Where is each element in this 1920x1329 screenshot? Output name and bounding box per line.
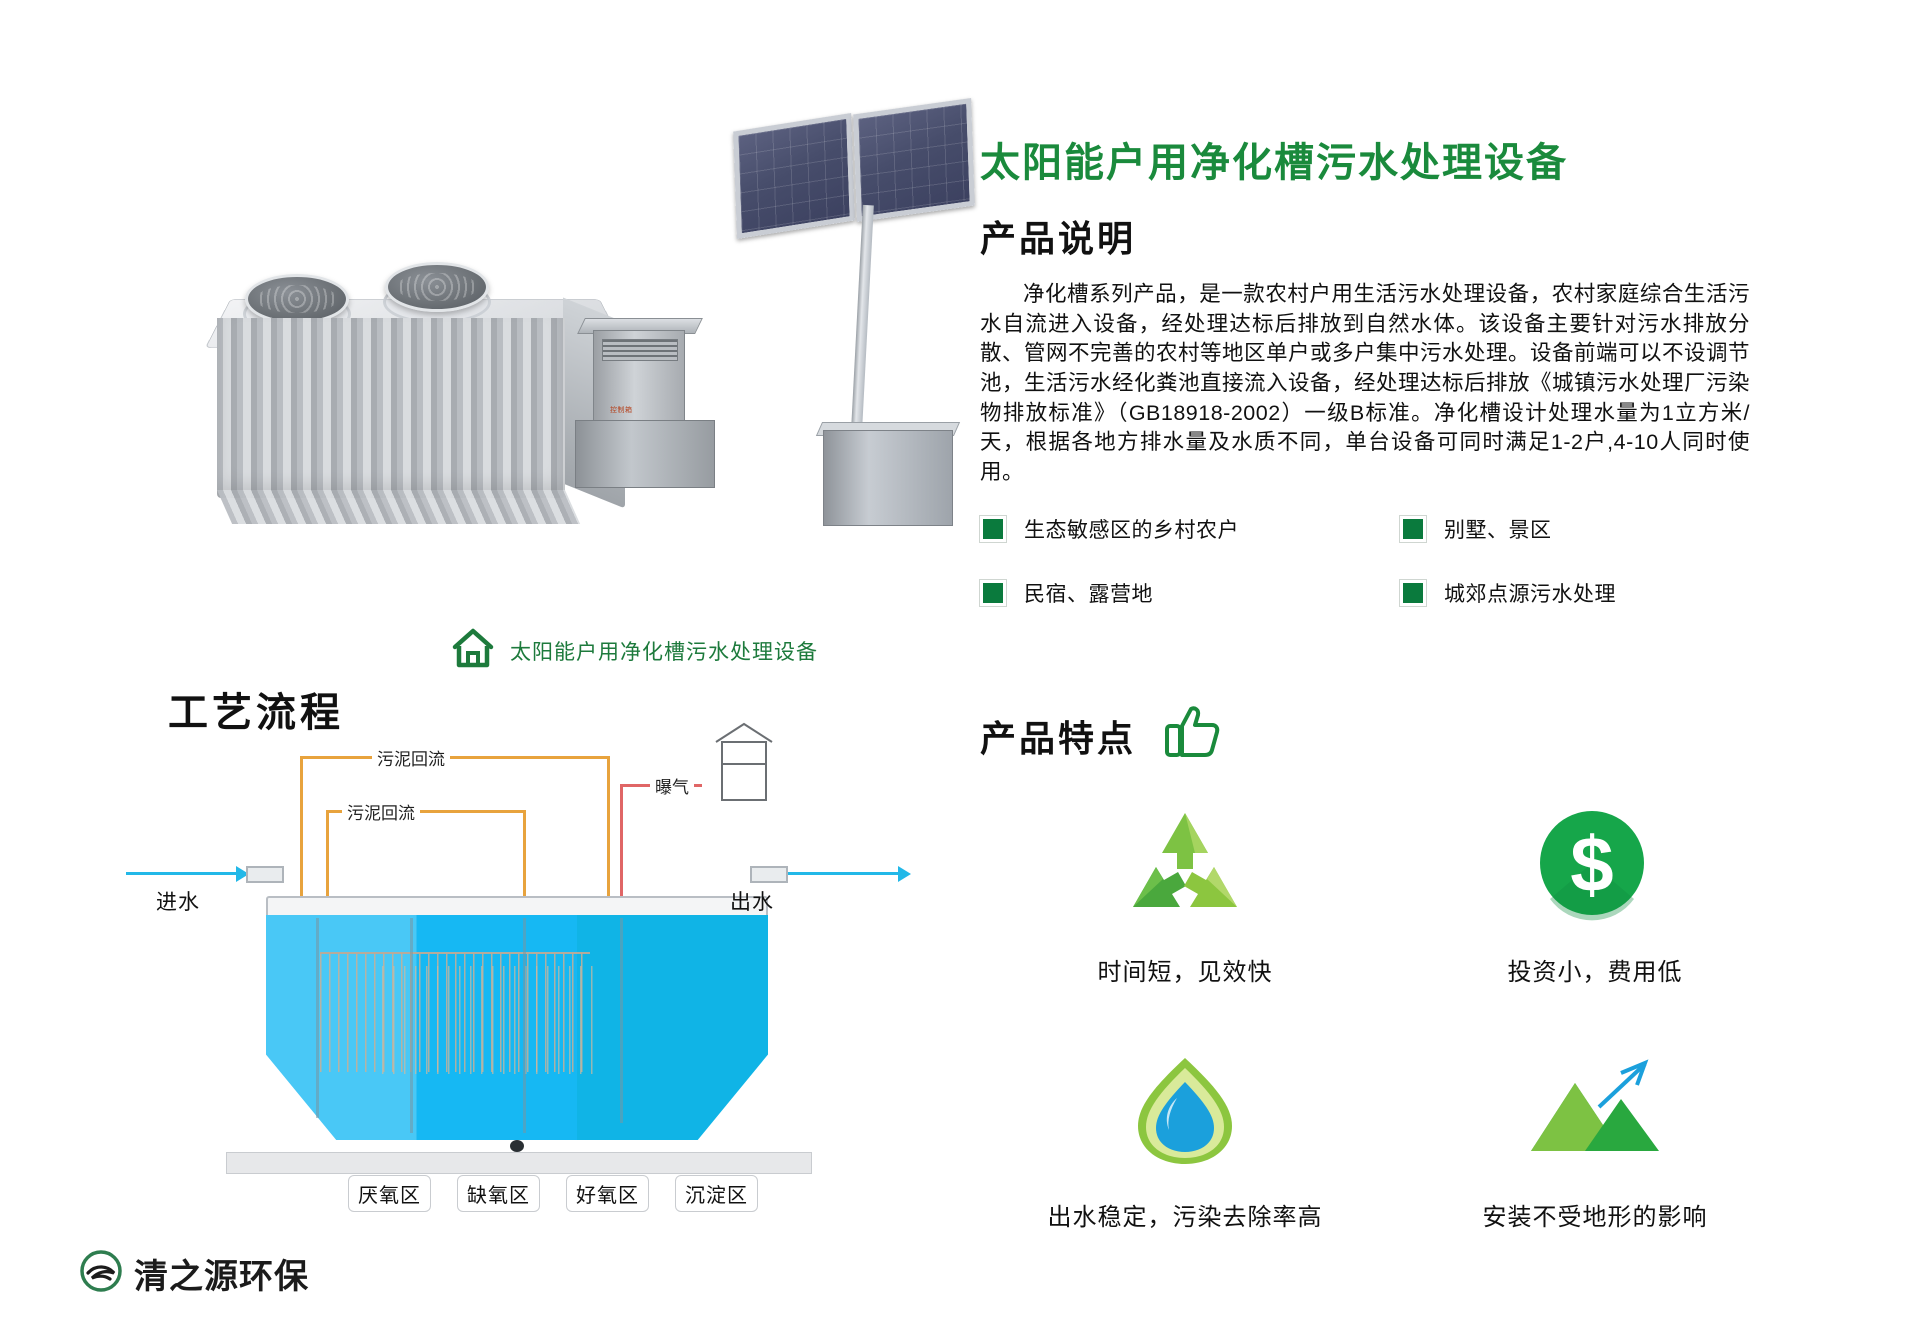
application-label: 别墅、景区 bbox=[1444, 514, 1552, 544]
logo-text: 清之源环保 bbox=[134, 1249, 309, 1298]
dollar-icon: $ bbox=[1520, 800, 1670, 930]
house-outlet-icon bbox=[710, 720, 778, 806]
description-column: 太阳能户用净化槽污水处理设备 产品说明 净化槽系列产品，是一款农村户用生活污水处… bbox=[980, 130, 1860, 608]
biofilm-media-pack-2 bbox=[382, 966, 594, 1074]
solar-panel-left bbox=[733, 113, 855, 239]
mast-base bbox=[823, 430, 953, 526]
tank-hatch-2 bbox=[385, 262, 489, 312]
zone-divider-4 bbox=[620, 918, 623, 1123]
features-grid: 时间短，见效快 $ 投资小，费用低 出水稳定，污染去 bbox=[980, 800, 1800, 1232]
purification-tank bbox=[205, 258, 625, 500]
solar-panel-assembly bbox=[735, 100, 995, 520]
section-title-features: 产品特点 bbox=[980, 710, 1136, 762]
square-bullet-icon bbox=[1400, 516, 1426, 542]
product-description-text: 净化槽系列产品，是一款农村户用生活污水处理设备，农村家庭综合生活污水自流进入设备… bbox=[980, 280, 1750, 488]
thumbs-up-icon bbox=[1162, 702, 1220, 769]
inlet-label: 进水 bbox=[156, 886, 200, 916]
outlet-arrow-head bbox=[898, 866, 911, 882]
zone-chip-sedimentation: 沉淀区 bbox=[675, 1175, 758, 1212]
tank-ribbed-body bbox=[217, 318, 565, 498]
zone-divider-2 bbox=[410, 918, 413, 1133]
feature-label: 投资小，费用低 bbox=[1508, 952, 1683, 987]
feature-label: 时间短，见效快 bbox=[1098, 952, 1273, 987]
feature-item-2: $ 投资小，费用低 bbox=[1390, 800, 1800, 987]
control-box: 控制箱 bbox=[593, 330, 685, 426]
application-label: 城郊点源污水处理 bbox=[1444, 578, 1616, 608]
waterdrop-icon bbox=[1110, 1045, 1260, 1175]
recycle-icon bbox=[1110, 800, 1260, 930]
aeration-label: 曝气 bbox=[650, 773, 694, 798]
brochure-page: 控制箱 太阳能户用净化槽污水处理设备 太阳能户用净化槽污水处理设备 产品说明 净… bbox=[0, 0, 1920, 1329]
company-logo: 清之源环保 bbox=[78, 1248, 309, 1299]
photo-caption-text: 太阳能户用净化槽污水处理设备 bbox=[510, 636, 818, 666]
sludge-accumulation-icon bbox=[510, 1140, 524, 1152]
section-title-features-row: 产品特点 bbox=[980, 702, 1220, 769]
photo-caption: 太阳能户用净化槽污水处理设备 bbox=[450, 625, 818, 676]
outlet-port bbox=[750, 866, 788, 883]
outlet-arrow-line bbox=[788, 872, 900, 875]
ground-base bbox=[226, 1152, 812, 1174]
mountain-icon bbox=[1520, 1045, 1670, 1175]
zone-chip-anaerobic: 厌氧区 bbox=[348, 1175, 431, 1212]
equipment-pedestal bbox=[575, 420, 715, 488]
square-bullet-icon bbox=[980, 580, 1006, 606]
section-title-description: 产品说明 bbox=[980, 210, 1860, 262]
zone-label-row: 厌氧区 缺氧区 好氧区 沉淀区 bbox=[220, 1175, 820, 1212]
sludge-return-inner-label: 污泥回流 bbox=[342, 799, 420, 824]
logo-mark-icon bbox=[78, 1248, 124, 1299]
svg-text:$: $ bbox=[1570, 820, 1613, 908]
feature-item-4: 安装不受地形的影响 bbox=[1390, 1045, 1800, 1232]
zone-divider-3 bbox=[523, 918, 526, 1133]
product-photo: 控制箱 太阳能户用净化槽污水处理设备 bbox=[95, 40, 955, 640]
feature-label: 安装不受地形的影响 bbox=[1483, 1197, 1708, 1232]
process-flow-diagram: 污泥回流 污泥回流 曝气 进水 出水 bbox=[120, 720, 950, 1280]
application-label: 生态敏感区的乡村农户 bbox=[1024, 514, 1239, 544]
application-item-2: 别墅、景区 bbox=[1400, 514, 1780, 544]
feature-label: 出水稳定，污染去除率高 bbox=[1048, 1197, 1323, 1232]
sludge-return-outer-left bbox=[300, 756, 303, 901]
application-item-1: 生态敏感区的乡村农户 bbox=[980, 514, 1400, 544]
page-title: 太阳能户用净化槽污水处理设备 bbox=[980, 130, 1860, 188]
flow-tank-lid bbox=[266, 896, 768, 918]
sludge-return-outer-label: 污泥回流 bbox=[372, 745, 450, 770]
sludge-return-inner-left bbox=[326, 810, 329, 902]
inlet-arrow-line bbox=[126, 872, 236, 875]
home-icon bbox=[450, 625, 496, 676]
square-bullet-icon bbox=[1400, 580, 1426, 606]
solar-panel-right bbox=[853, 98, 975, 222]
application-label: 民宿、露营地 bbox=[1024, 578, 1153, 608]
control-box-label: 控制箱 bbox=[610, 405, 633, 415]
feature-item-3: 出水稳定，污染去除率高 bbox=[980, 1045, 1390, 1232]
control-box-vent bbox=[602, 339, 678, 361]
outlet-label: 出水 bbox=[730, 886, 774, 916]
application-item-3: 民宿、露营地 bbox=[980, 578, 1400, 608]
zone-chip-aerobic: 好氧区 bbox=[566, 1175, 649, 1212]
tank-hatch-1 bbox=[245, 274, 349, 324]
sludge-return-outer-top bbox=[300, 756, 610, 759]
square-bullet-icon bbox=[980, 516, 1006, 542]
zone-chip-anoxic: 缺氧区 bbox=[457, 1175, 540, 1212]
inlet-port bbox=[246, 866, 284, 883]
feature-item-1: 时间短，见效快 bbox=[980, 800, 1390, 987]
zone-divider-1 bbox=[316, 918, 319, 1118]
application-item-4: 城郊点源污水处理 bbox=[1400, 578, 1780, 608]
application-list: 生态敏感区的乡村农户 别墅、景区 民宿、露营地 城郊点源污水处理 bbox=[980, 514, 1780, 608]
